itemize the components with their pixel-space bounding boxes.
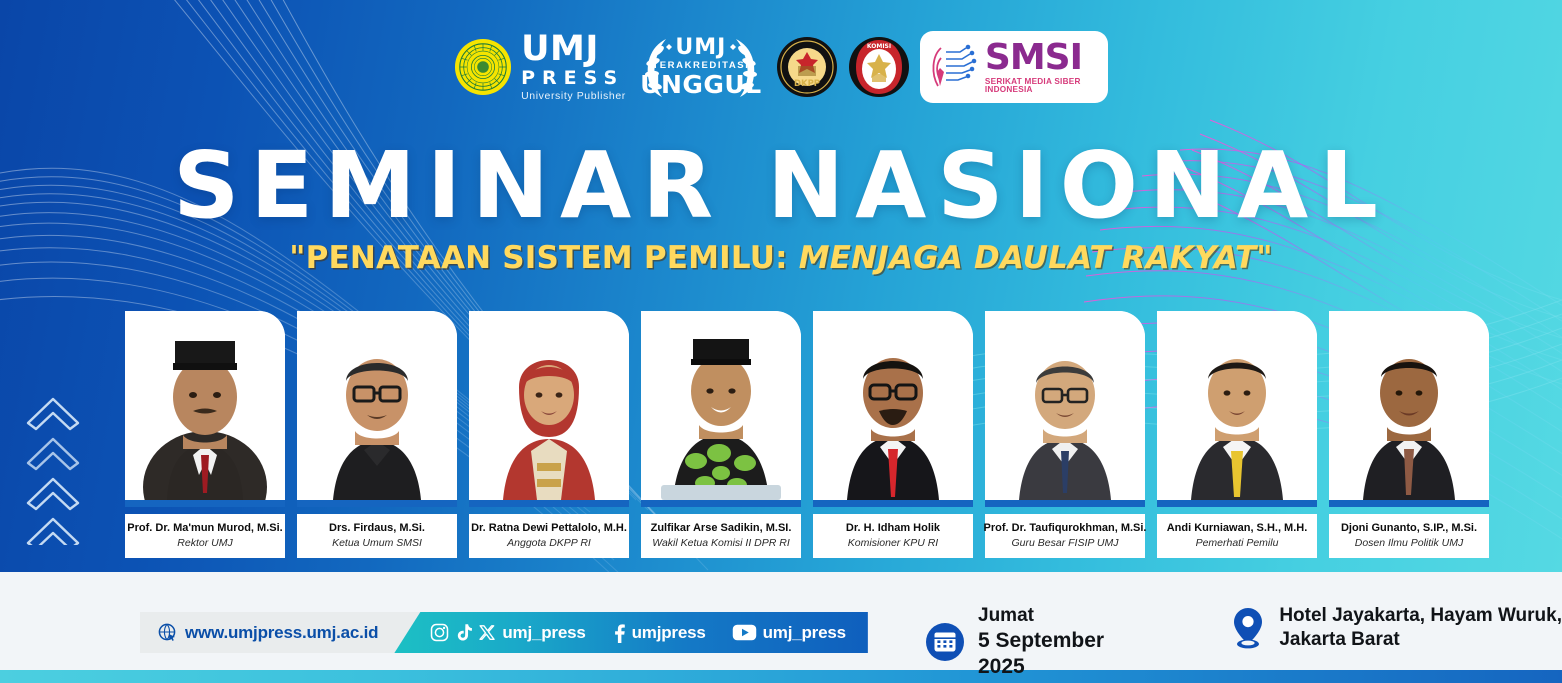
- speaker-nameplate: Prof. Dr. Ma'mun Murod, M.Si. Rektor UMJ: [125, 514, 285, 558]
- facebook-icon[interactable]: [612, 623, 626, 643]
- smsi-logo: SMSI SERIKAT MEDIA SIBER INDONESIA: [920, 31, 1108, 103]
- speaker-card: Zulfikar Arse Sadikin, M.SI. Wakil Ketua…: [641, 311, 801, 561]
- location-line2: Jakarta Barat: [1279, 628, 1562, 652]
- speaker-name: Drs. Firdaus, M.Si.: [329, 522, 425, 534]
- logo-row: UMJ PRESS University Publisher: [0, 26, 1562, 108]
- speaker-nameplate: Prof. Dr. Taufiqurokhman, M.Si. Guru Bes…: [985, 514, 1145, 558]
- umj-seal-icon: [454, 38, 512, 96]
- speaker-card: Drs. Firdaus, M.Si. Ketua Umum SMSI: [297, 311, 457, 561]
- location-line1: Hotel Jayakarta, Hayam Wuruk,: [1279, 604, 1562, 628]
- dkpp-emblem-icon: DKPP: [776, 36, 838, 98]
- speaker-role: Guru Besar FISIP UMJ: [1012, 538, 1119, 550]
- speaker-role: Ketua Umum SMSI: [332, 538, 422, 550]
- speaker-list: Prof. Dr. Ma'mun Murod, M.Si. Rektor UMJ: [125, 311, 1450, 561]
- umj-press-line1: UMJ: [521, 32, 626, 67]
- avatar: [641, 311, 801, 500]
- avatar: [985, 311, 1145, 500]
- avatar: [1157, 311, 1317, 500]
- event-date: 5 September 2025: [978, 628, 1152, 681]
- speaker-photo: [985, 311, 1145, 507]
- avatar: [1329, 311, 1489, 500]
- badge-line3: UNGGUL: [640, 72, 762, 97]
- speaker-role: Dosen Ilmu Politik UMJ: [1355, 538, 1464, 550]
- calendar-icon: [925, 622, 965, 662]
- social-handles: umj_press umjpress umj_press: [394, 612, 868, 653]
- tiktok-icon[interactable]: [455, 623, 472, 642]
- speaker-nameplate: Djoni Gunanto, S.IP., M.Si. Dosen Ilmu P…: [1329, 514, 1489, 558]
- website-chip[interactable]: www.umjpress.umj.ac.id: [140, 612, 420, 653]
- speaker-role: Pemerhati Pemilu: [1196, 538, 1279, 550]
- speaker-photo: [813, 311, 973, 507]
- avatar: [125, 311, 285, 500]
- speaker-name: Prof. Dr. Taufiqurokhman, M.Si.: [984, 522, 1147, 534]
- speaker-card: Dr. Ratna Dewi Pettalolo, M.H. Anggota D…: [469, 311, 629, 561]
- speaker-card: Djoni Gunanto, S.IP., M.Si. Dosen Ilmu P…: [1329, 311, 1489, 561]
- subtitle-plain: "PENATAAN SISTEM PEMILU:: [289, 240, 798, 276]
- speaker-photo: [125, 311, 285, 507]
- seminar-banner: UMJ PRESS University Publisher: [0, 0, 1562, 683]
- speaker-nameplate: Zulfikar Arse Sadikin, M.SI. Wakil Ketua…: [641, 514, 801, 558]
- speaker-role: Wakil Ketua Komisi II DPR RI: [652, 538, 790, 550]
- speaker-role: Anggota DKPP RI: [507, 538, 591, 550]
- social-item-instagram-tiktok-x[interactable]: umj_press: [430, 623, 585, 643]
- svg-text:KOMISI: KOMISI: [867, 43, 891, 50]
- page-title: SEMINAR NASIONAL: [0, 140, 1562, 232]
- youtube-icon[interactable]: [732, 623, 757, 642]
- speaker-card: Prof. Dr. Ma'mun Murod, M.Si. Rektor UMJ: [125, 311, 285, 561]
- x-twitter-icon[interactable]: [478, 624, 496, 642]
- umj-press-line2: PRESS: [521, 69, 626, 88]
- map-pin-icon: [1230, 606, 1266, 650]
- social-bar: www.umjpress.umj.ac.id umj_press: [140, 612, 868, 653]
- speaker-name: Prof. Dr. Ma'mun Murod, M.Si.: [127, 522, 282, 534]
- umj-press-line3: University Publisher: [521, 91, 626, 102]
- speaker-nameplate: Andi Kurniawan, S.H., M.H. Pemerhati Pem…: [1157, 514, 1317, 558]
- globe-cursor-icon: [158, 623, 178, 643]
- speaker-photo: [469, 311, 629, 507]
- speaker-role: Komisioner KPU RI: [848, 538, 938, 550]
- speaker-card: Dr. H. Idham Holik Komisioner KPU RI: [813, 311, 973, 561]
- subtitle-italic: MENJAGA DAULAT RAKYAT": [799, 240, 1273, 276]
- event-info: Jumat 5 September 2025 Hotel Jayakarta, …: [925, 604, 1562, 680]
- speaker-name: Dr. Ratna Dewi Pettalolo, M.H.: [471, 522, 627, 534]
- badge-line1: UMJ: [675, 37, 726, 59]
- speaker-nameplate: Dr. Ratna Dewi Pettalolo, M.H. Anggota D…: [469, 514, 629, 558]
- speaker-name: Djoni Gunanto, S.IP., M.Si.: [1341, 522, 1477, 534]
- kpu-emblem-icon: KOMISI: [848, 36, 910, 98]
- page-subtitle: "PENATAAN SISTEM PEMILU: MENJAGA DAULAT …: [0, 243, 1562, 274]
- avatar: [469, 311, 629, 500]
- speaker-nameplate: Dr. H. Idham Holik Komisioner KPU RI: [813, 514, 973, 558]
- speaker-nameplate: Drs. Firdaus, M.Si. Ketua Umum SMSI: [297, 514, 457, 558]
- smsi-line2: SERIKAT MEDIA SIBER INDONESIA: [985, 78, 1100, 94]
- speaker-name: Zulfikar Arse Sadikin, M.SI.: [651, 522, 792, 534]
- umj-press-logo: UMJ PRESS University Publisher: [454, 32, 626, 102]
- speaker-photo: [1329, 311, 1489, 507]
- speaker-name: Dr. H. Idham Holik: [846, 522, 940, 534]
- avatar: [813, 311, 973, 500]
- website-text: www.umjpress.umj.ac.id: [185, 623, 378, 643]
- speaker-card: Prof. Dr. Taufiqurokhman, M.Si. Guru Bes…: [985, 311, 1145, 561]
- chevron-up-outline-icon: [20, 385, 86, 545]
- instagram-icon[interactable]: [430, 623, 449, 642]
- social-handle: umj_press: [502, 623, 585, 643]
- accreditation-badge: UMJ TERAKREDITASI UNGGUL: [636, 31, 766, 103]
- event-date-block: Jumat 5 September 2025: [925, 604, 1152, 680]
- social-item-facebook[interactable]: umjpress: [612, 623, 706, 643]
- svg-text:DKPP: DKPP: [794, 79, 820, 89]
- smsi-line1: SMSI: [985, 40, 1100, 76]
- social-item-youtube[interactable]: umj_press: [732, 623, 846, 643]
- event-day: Jumat: [978, 604, 1152, 628]
- smsi-circuit-pen-icon: [928, 42, 980, 92]
- speaker-name: Andi Kurniawan, S.H., M.H.: [1167, 522, 1308, 534]
- speaker-photo: [297, 311, 457, 507]
- speaker-card: Andi Kurniawan, S.H., M.H. Pemerhati Pem…: [1157, 311, 1317, 561]
- avatar: [297, 311, 457, 500]
- social-handle: umjpress: [632, 623, 706, 643]
- social-handle: umj_press: [763, 623, 846, 643]
- event-location-block: Hotel Jayakarta, Hayam Wuruk, Jakarta Ba…: [1230, 604, 1562, 652]
- speaker-role: Rektor UMJ: [177, 538, 232, 550]
- speaker-photo: [1157, 311, 1317, 507]
- speaker-photo: [641, 311, 801, 507]
